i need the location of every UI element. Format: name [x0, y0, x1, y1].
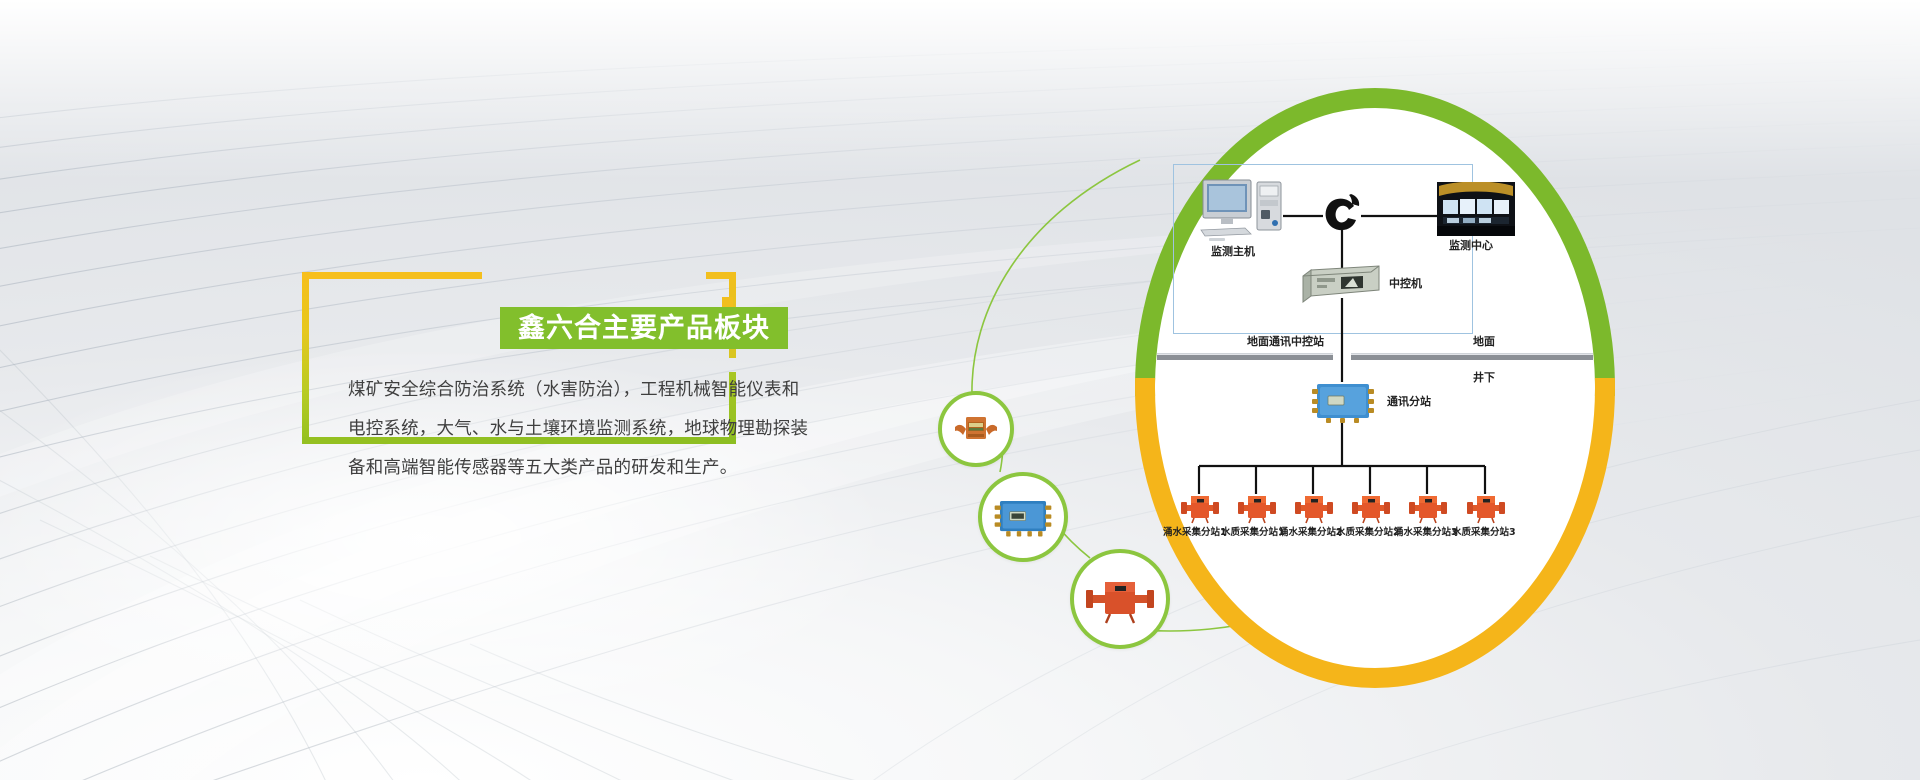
station-device-6 — [1463, 492, 1509, 529]
red-flanged-device-icon — [1177, 492, 1223, 524]
central-controller-device — [1301, 264, 1385, 309]
red-flanged-device-icon — [1348, 492, 1394, 524]
comm-substation-device — [1308, 378, 1378, 431]
paragraph-line-3: 备和高端智能传感器等五大类产品的研发和生产。 — [348, 456, 868, 481]
blue-junction-box-icon — [1308, 378, 1378, 426]
red-flanged-device-icon — [1291, 492, 1337, 524]
station-device-4 — [1348, 492, 1394, 529]
page-title: 鑫六合主要产品板块 — [518, 315, 770, 342]
frame-edge-left — [302, 272, 309, 444]
internet-e-icon — [1321, 192, 1363, 236]
product-bubble-1[interactable] — [938, 391, 1014, 467]
ground-station-label: 地面通讯中控站 — [1247, 336, 1324, 348]
comm-substation-label: 通讯分站 — [1387, 396, 1431, 408]
system-architecture-diagram: 监测主机 监测中心 — [1155, 150, 1595, 630]
frame-edge-top — [302, 272, 482, 279]
station-label-2: 水质采集分站1 — [1221, 528, 1285, 538]
monitor-center-label: 监测中心 — [1449, 240, 1493, 252]
description-paragraph: 煤矿安全综合防治系统（水害防治），工程机械智能仪表和 电控系统，大气、水与土壤环… — [348, 378, 868, 481]
central-controller-label: 中控机 — [1389, 278, 1422, 290]
station-label-1: 涌水采集分站1 — [1163, 528, 1227, 538]
paragraph-line-1: 煤矿安全综合防治系统（水害防治），工程机械智能仪表和 — [348, 378, 868, 403]
station-label-3: 涌水采集分站2 — [1279, 528, 1343, 538]
station-label-4: 水质采集分站2 — [1336, 528, 1400, 538]
banner-stage: 鑫六合主要产品板块 煤矿安全综合防治系统（水害防治），工程机械智能仪表和 电控系… — [0, 0, 1920, 780]
monitor-host-label: 监测主机 — [1211, 246, 1255, 258]
underground-label: 井下 — [1473, 372, 1495, 384]
rack-server-icon — [1301, 264, 1385, 304]
desktop-computer-icon — [1199, 178, 1291, 244]
station-label-6: 水质采集分站3 — [1452, 528, 1516, 538]
blue-junction-box-icon — [992, 495, 1054, 539]
station-device-1 — [1177, 492, 1223, 529]
product-bubble-3[interactable] — [1070, 549, 1170, 649]
control-room-screens-icon — [1437, 182, 1515, 236]
orange-meter-device-icon — [953, 413, 999, 445]
ground-label: 地面 — [1473, 336, 1495, 348]
station-label-5: 涌水采集分站3 — [1394, 528, 1458, 538]
red-flanged-device-icon — [1084, 574, 1156, 624]
red-flanged-device-icon — [1405, 492, 1451, 524]
station-device-3 — [1291, 492, 1337, 529]
red-flanged-device-icon — [1234, 492, 1280, 524]
product-bubble-2[interactable] — [978, 472, 1068, 562]
section-title-banner: 鑫六合主要产品板块 — [500, 307, 788, 349]
red-flanged-device-icon — [1463, 492, 1509, 524]
monitor-host-device — [1199, 178, 1291, 249]
paragraph-line-2: 电控系统，大气、水与土壤环境监测系统，地球物理勘探装 — [348, 417, 868, 442]
monitor-center-device — [1437, 182, 1515, 241]
station-device-2 — [1234, 492, 1280, 529]
internet-node — [1321, 192, 1363, 241]
station-device-5 — [1405, 492, 1451, 529]
